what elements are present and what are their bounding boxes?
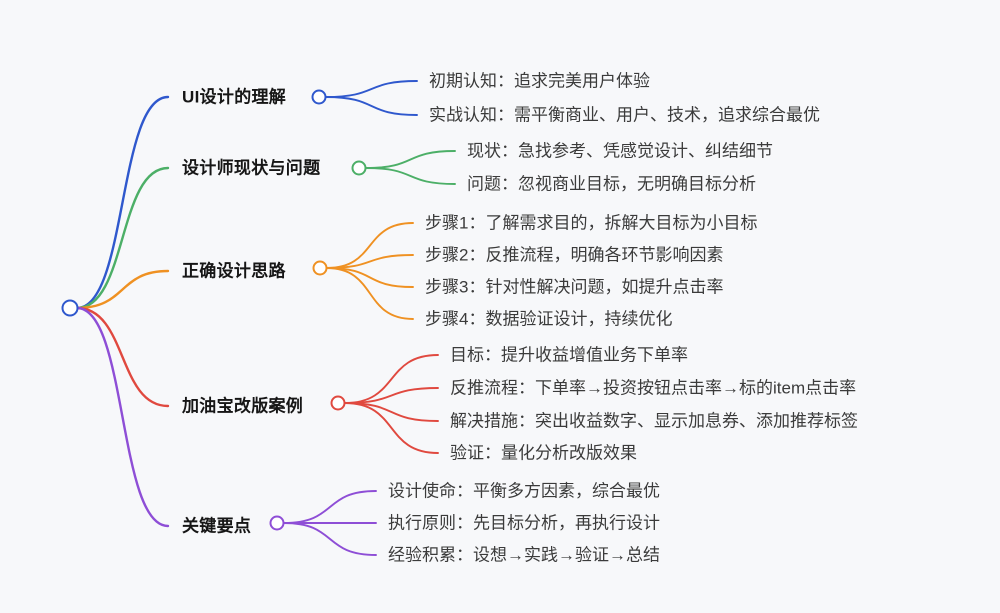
leaf-label-key-points-2[interactable]: 经验积累：设想→实践→验证→总结 [388,547,660,564]
root-node-dot[interactable] [62,300,79,317]
leaf-label-designer-status-0[interactable]: 现状：急找参考、凭感觉设计、纠结细节 [467,143,773,160]
trunk-line-designer-status [77,168,168,308]
trunk-line-correct-thinking [77,271,168,308]
leaf-line-ui-understanding-0 [326,81,417,97]
leaf-line-jiayoubao-case-1 [345,388,438,403]
leaf-label-key-points-0[interactable]: 设计使命：平衡多方因素，综合最优 [388,483,660,500]
leaf-line-key-points-0 [284,491,376,523]
branch-node-dot-jiayoubao-case[interactable] [331,396,346,411]
leaf-label-jiayoubao-case-0[interactable]: 目标：提升收益增值业务下单率 [450,347,688,364]
leaf-line-jiayoubao-case-3 [345,403,438,453]
leaf-line-jiayoubao-case-0 [345,355,438,403]
leaf-line-designer-status-1 [366,168,455,184]
leaf-line-correct-thinking-2 [327,268,413,287]
branch-node-dot-correct-thinking[interactable] [313,261,328,276]
trunk-line-key-points [77,308,168,526]
branch-label-key-points[interactable]: 关键要点 [182,518,251,535]
branch-node-dot-ui-understanding[interactable] [312,90,327,105]
leaf-label-jiayoubao-case-1[interactable]: 反推流程：下单率→投资按钮点击率→标的item点击率 [450,380,856,397]
leaf-label-jiayoubao-case-3[interactable]: 验证：量化分析改版效果 [450,445,637,462]
branch-label-correct-thinking[interactable]: 正确设计思路 [182,263,286,280]
leaf-line-correct-thinking-3 [327,268,413,319]
leaf-line-correct-thinking-1 [327,255,413,268]
leaf-line-designer-status-0 [366,151,455,168]
leaf-line-correct-thinking-0 [327,223,413,268]
leaf-label-jiayoubao-case-2[interactable]: 解决措施：突出收益数字、显示加息券、添加推荐标签 [450,413,858,430]
branch-label-jiayoubao-case[interactable]: 加油宝改版案例 [182,398,303,415]
branch-node-dot-designer-status[interactable] [352,161,367,176]
leaf-label-correct-thinking-3[interactable]: 步骤4：数据验证设计，持续优化 [425,311,672,328]
leaf-label-correct-thinking-1[interactable]: 步骤2：反推流程，明确各环节影响因素 [425,247,723,264]
leaf-label-ui-understanding-0[interactable]: 初期认知：追求完美用户体验 [429,73,650,90]
branch-label-designer-status[interactable]: 设计师现状与问题 [182,160,320,177]
leaf-line-key-points-2 [284,523,376,555]
mind-map-canvas: UI设计的理解初期认知：追求完美用户体验实战认知：需平衡商业、用户、技术，追求综… [0,0,1000,613]
leaf-line-jiayoubao-case-2 [345,403,438,421]
leaf-label-designer-status-1[interactable]: 问题：忽视商业目标，无明确目标分析 [467,176,756,193]
trunk-line-ui-understanding [77,97,168,308]
leaf-label-correct-thinking-2[interactable]: 步骤3：针对性解决问题，如提升点击率 [425,279,723,296]
leaf-label-correct-thinking-0[interactable]: 步骤1：了解需求目的，拆解大目标为小目标 [425,215,757,232]
leaf-label-ui-understanding-1[interactable]: 实战认知：需平衡商业、用户、技术，追求综合最优 [429,107,820,124]
branch-label-ui-understanding[interactable]: UI设计的理解 [182,89,286,106]
leaf-line-ui-understanding-1 [326,97,417,115]
leaf-label-key-points-1[interactable]: 执行原则：先目标分析，再执行设计 [388,515,660,532]
trunk-line-jiayoubao-case [77,308,168,406]
branch-node-dot-key-points[interactable] [270,516,285,531]
